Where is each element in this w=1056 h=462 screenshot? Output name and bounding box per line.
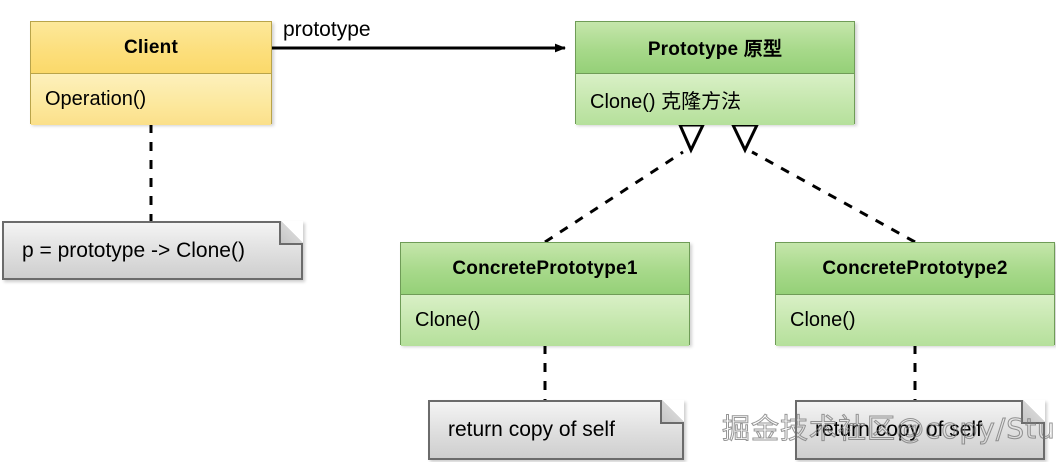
uml-diagram-canvas: prototype Client Operation() Prototype 原… <box>0 0 1056 462</box>
note-text: return copy of self <box>448 418 615 442</box>
class-operations-concrete-prototype-2: Clone() <box>776 295 1054 346</box>
class-name-client: Client <box>31 22 271 73</box>
class-box-concrete-prototype-1[interactable]: ConcretePrototype1 Clone() <box>400 242 690 345</box>
note-text: p = prototype -> Clone() <box>22 239 245 263</box>
watermark-text: 掘金技术社区@copy/Study <box>722 407 1056 447</box>
class-box-concrete-prototype-2[interactable]: ConcretePrototype2 Clone() <box>775 242 1055 345</box>
class-name-concrete-prototype-2: ConcretePrototype2 <box>776 243 1054 294</box>
hollow-triangle-icon-right <box>733 125 757 150</box>
hollow-triangle-icon-left <box>680 125 703 150</box>
edge-label-prototype: prototype <box>283 18 371 42</box>
note-fold-corner-icon <box>279 221 303 245</box>
note-concrete-prototype-1[interactable]: return copy of self <box>428 400 684 460</box>
note-client-operation[interactable]: p = prototype -> Clone() <box>2 221 303 280</box>
class-operations-client: Operation() <box>31 74 271 125</box>
class-box-prototype[interactable]: Prototype 原型 Clone() 克隆方法 <box>575 21 855 124</box>
class-box-client[interactable]: Client Operation() <box>30 21 272 124</box>
note-fold-corner-icon <box>660 400 684 424</box>
edge-concrete1-realization <box>545 152 683 242</box>
class-operations-concrete-prototype-1: Clone() <box>401 295 689 346</box>
edge-concrete2-realization <box>752 152 915 242</box>
class-name-concrete-prototype-1: ConcretePrototype1 <box>401 243 689 294</box>
class-operations-prototype: Clone() 克隆方法 <box>576 74 854 125</box>
class-name-prototype: Prototype 原型 <box>576 22 854 73</box>
